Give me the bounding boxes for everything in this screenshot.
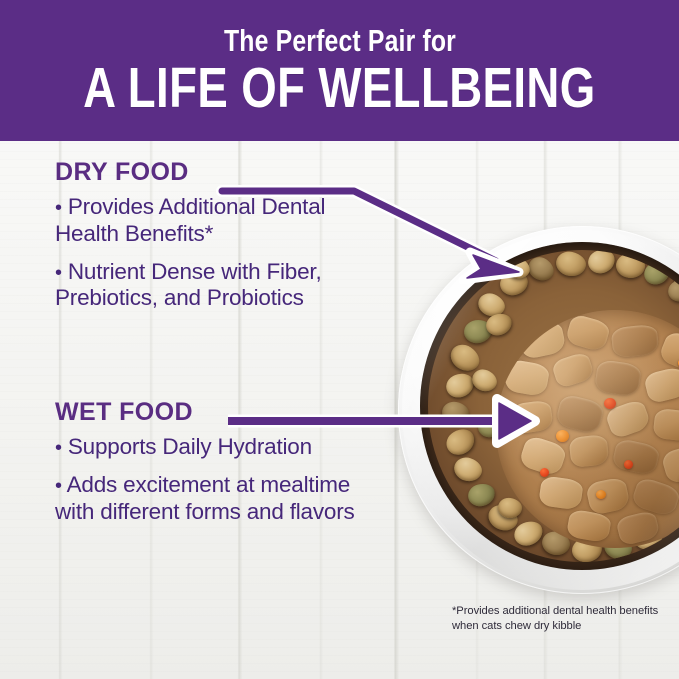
dry-food-heading: DRY FOOD [55,160,385,185]
wet-food-bullet-1-text: Supports Daily Hydration [68,434,312,459]
bullet-dot-icon: • [55,437,62,459]
header-line-1: The Perfect Pair for [223,25,455,56]
wet-food-bullet-2-text: Adds excitement at mealtime with differe… [55,472,355,524]
dry-food-bullet-1-text: Provides Additional Dental Health Benefi… [55,194,325,246]
dry-food-bullet-2-text: Nutrient Dense with Fiber, Prebiotics, a… [55,259,322,311]
dry-food-bullet-2: • Nutrient Dense with Fiber, Prebiotics,… [55,259,385,313]
header-banner: The Perfect Pair for A LIFE OF WELLBEING [0,0,679,141]
infographic-page: The Perfect Pair for A LIFE OF WELLBEING… [0,0,679,679]
wet-food-bullet-2: • Adds excitement at mealtime with diffe… [55,472,385,526]
dry-food-section: DRY FOOD • Provides Additional Dental He… [55,160,385,323]
wet-food-heading: WET FOOD [55,400,385,425]
dry-food-bullet-1: • Provides Additional Dental Health Bene… [55,194,385,248]
page-title: A LIFE OF WELLBEING [83,60,596,117]
wet-food-bullet-1: • Supports Daily Hydration [55,434,385,461]
footnote: *Provides additional dental health benef… [452,604,667,634]
bullet-dot-icon: • [55,475,62,497]
bullet-dot-icon: • [55,262,62,284]
wet-food-section: WET FOOD • Supports Daily Hydration • Ad… [55,400,385,536]
bullet-dot-icon: • [55,197,62,219]
